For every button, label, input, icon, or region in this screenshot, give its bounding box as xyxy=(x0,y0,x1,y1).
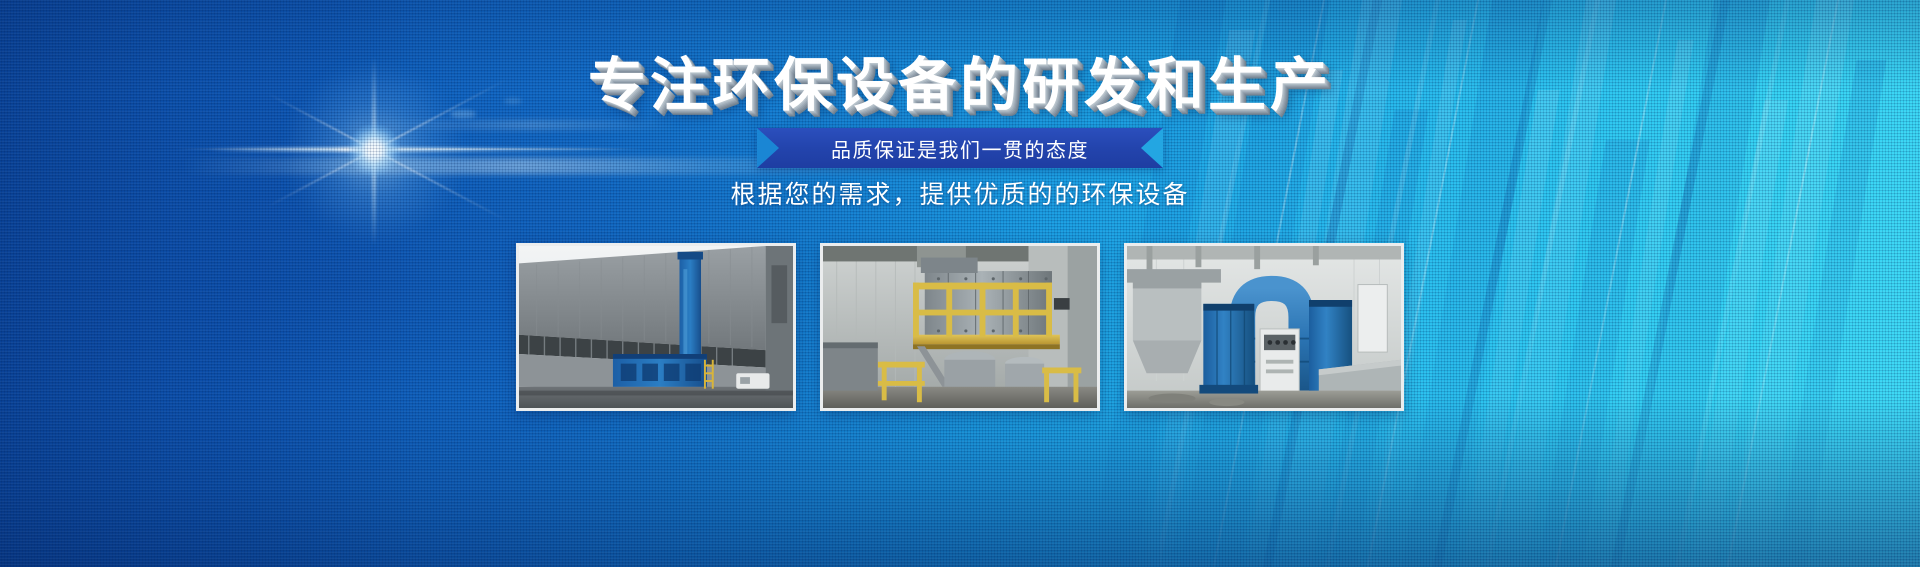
banner-subtitle: 根据您的需求，提供优质的的环保设备 xyxy=(0,175,1920,211)
ribbon-label: 品质保证是我们一贯的态度 xyxy=(831,134,1089,163)
photo-gallery xyxy=(0,243,1920,411)
ribbon-banner: 品质保证是我们一贯的态度 xyxy=(757,128,1163,168)
banner-title: 专注环保设备的研发和生产 xyxy=(0,56,1920,117)
photo-factory-exterior[interactable] xyxy=(516,243,796,411)
photo-equipment-platform[interactable] xyxy=(820,243,1100,411)
ribbon-container: 品质保证是我们一贯的态度 xyxy=(0,128,1920,168)
hero-banner: 专注环保设备的研发和生产 品质保证是我们一贯的态度 根据您的需求，提供优质的的环… xyxy=(0,0,1920,567)
photo-blue-dust-collector[interactable] xyxy=(1124,243,1404,411)
